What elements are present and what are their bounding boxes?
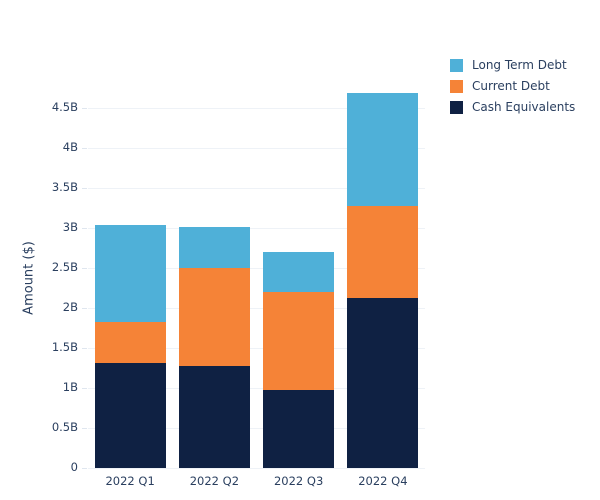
bar-group[interactable] [179, 88, 250, 468]
y-tick-label: 3B [0, 222, 78, 234]
x-tick-label: 2022 Q4 [328, 474, 438, 488]
y-tick-mark [82, 188, 87, 189]
legend-item[interactable]: Long Term Debt [450, 55, 600, 75]
y-tick-label: 4B [0, 142, 78, 154]
gridline [88, 468, 425, 469]
bar-group[interactable] [347, 88, 418, 468]
bar-segment[interactable] [95, 225, 166, 323]
legend-swatch-icon [450, 59, 463, 72]
y-tick-label: 1B [0, 382, 78, 394]
y-tick-label: 1.5B [0, 342, 78, 354]
bar-segment[interactable] [347, 206, 418, 297]
y-tick-label: 4.5B [0, 102, 78, 114]
y-tick-label: 3.5B [0, 182, 78, 194]
y-tick-mark [82, 428, 87, 429]
y-tick-mark [82, 268, 87, 269]
bar-segment[interactable] [95, 322, 166, 363]
bar-segment[interactable] [179, 227, 250, 268]
y-tick-label: 0.5B [0, 422, 78, 434]
bar-segment[interactable] [347, 298, 418, 468]
y-tick-label: 0 [0, 462, 78, 474]
bar-group[interactable] [95, 88, 166, 468]
y-tick-label: 2B [0, 302, 78, 314]
y-tick-mark [82, 468, 87, 469]
legend-swatch-icon [450, 80, 463, 93]
bar-segment[interactable] [179, 268, 250, 366]
legend-item[interactable]: Cash Equivalents [450, 97, 600, 117]
legend-label: Long Term Debt [472, 58, 567, 72]
y-tick-mark [82, 148, 87, 149]
bar-group[interactable] [263, 88, 334, 468]
chart-legend: Long Term DebtCurrent DebtCash Equivalen… [450, 55, 600, 118]
y-tick-mark [82, 228, 87, 229]
y-tick-mark [82, 108, 87, 109]
legend-item[interactable]: Current Debt [450, 76, 600, 96]
bar-segment[interactable] [95, 363, 166, 468]
legend-label: Cash Equivalents [472, 100, 575, 114]
bar-segment[interactable] [179, 366, 250, 468]
y-tick-mark [82, 348, 87, 349]
y-tick-mark [82, 388, 87, 389]
bar-segment[interactable] [347, 93, 418, 207]
y-tick-label: 2.5B [0, 262, 78, 274]
bar-segment[interactable] [263, 292, 334, 390]
stacked-bar-chart: Amount ($) 00.5B1B1.5B2B2.5B3B3.5B4B4.5B… [0, 0, 600, 500]
y-tick-mark [82, 308, 87, 309]
bar-segment[interactable] [263, 390, 334, 468]
bar-segment[interactable] [263, 252, 334, 292]
plot-area [88, 88, 425, 468]
legend-label: Current Debt [472, 79, 550, 93]
legend-swatch-icon [450, 101, 463, 114]
